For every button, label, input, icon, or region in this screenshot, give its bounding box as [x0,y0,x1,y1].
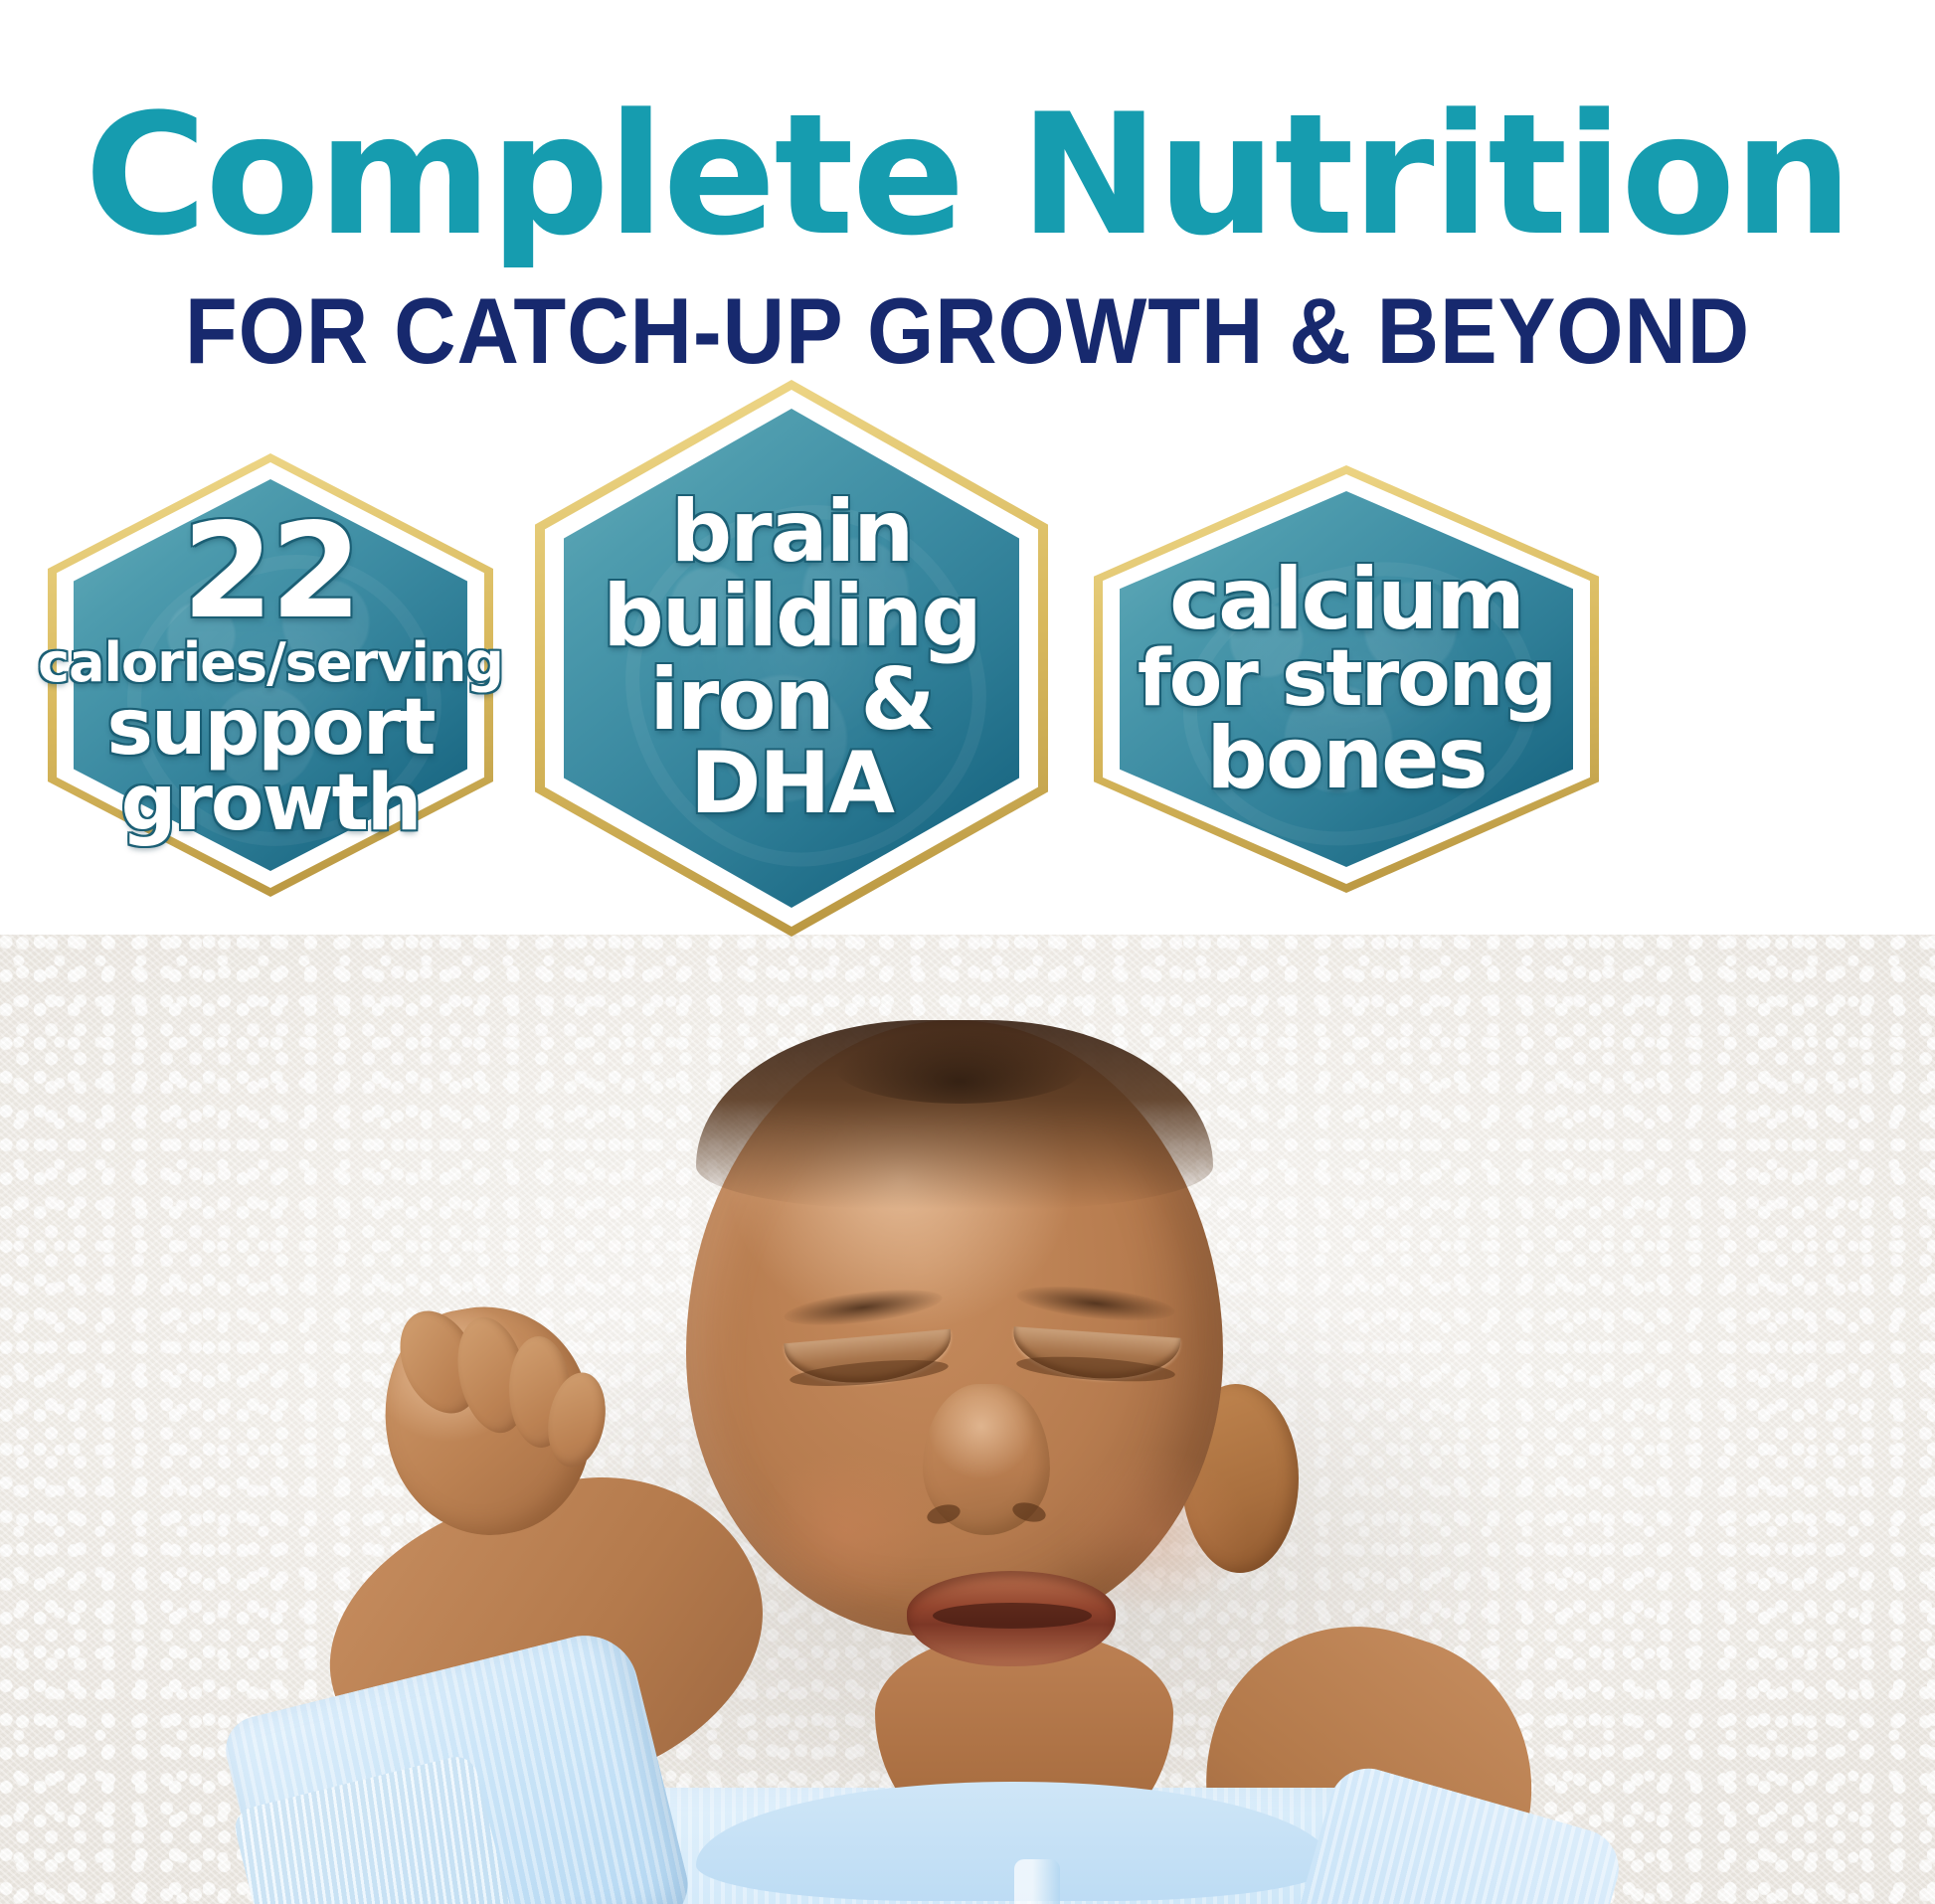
baby-mouth-opening [933,1603,1092,1629]
onesie-placket [1014,1859,1060,1904]
brain-line-1: brain [603,490,980,574]
calories-unit: calories/serving [38,637,503,690]
baby-photo [0,935,1935,1904]
brain-badge-text: brain building iron & DHA [597,490,986,825]
calcium-badge: calcium for strong bones [1094,465,1599,893]
calories-badge-text: 22 calories/serving support growth [32,508,509,841]
brain-line-3: iron & [603,658,980,742]
calories-value: 22 [38,508,503,636]
brain-badge: brain building iron & DHA [535,380,1048,937]
page-title: Complete Nutrition [0,0,1935,259]
brain-line-4: DHA [603,742,980,825]
calcium-line-3: bones [1138,717,1555,800]
benefit-badges: 22 calories/serving support growth brain… [0,398,1935,1014]
calcium-line-1: calcium [1138,558,1555,641]
brain-line-2: building [603,575,980,658]
calcium-badge-text: calcium for strong bones [1132,558,1561,801]
page-subtitle: FOR CATCH-UP GROWTH & BEYOND [78,259,1857,378]
calories-claim-2: growth [38,766,503,841]
header: Complete Nutrition FOR CATCH-UP GROWTH &… [0,0,1935,408]
calcium-line-2: for strong [1138,641,1555,717]
baby-hair-wisp [835,1030,1084,1104]
calories-claim-1: support [38,690,503,766]
baby-left-cheek [756,1452,935,1611]
calories-badge: 22 calories/serving support growth [48,453,493,897]
